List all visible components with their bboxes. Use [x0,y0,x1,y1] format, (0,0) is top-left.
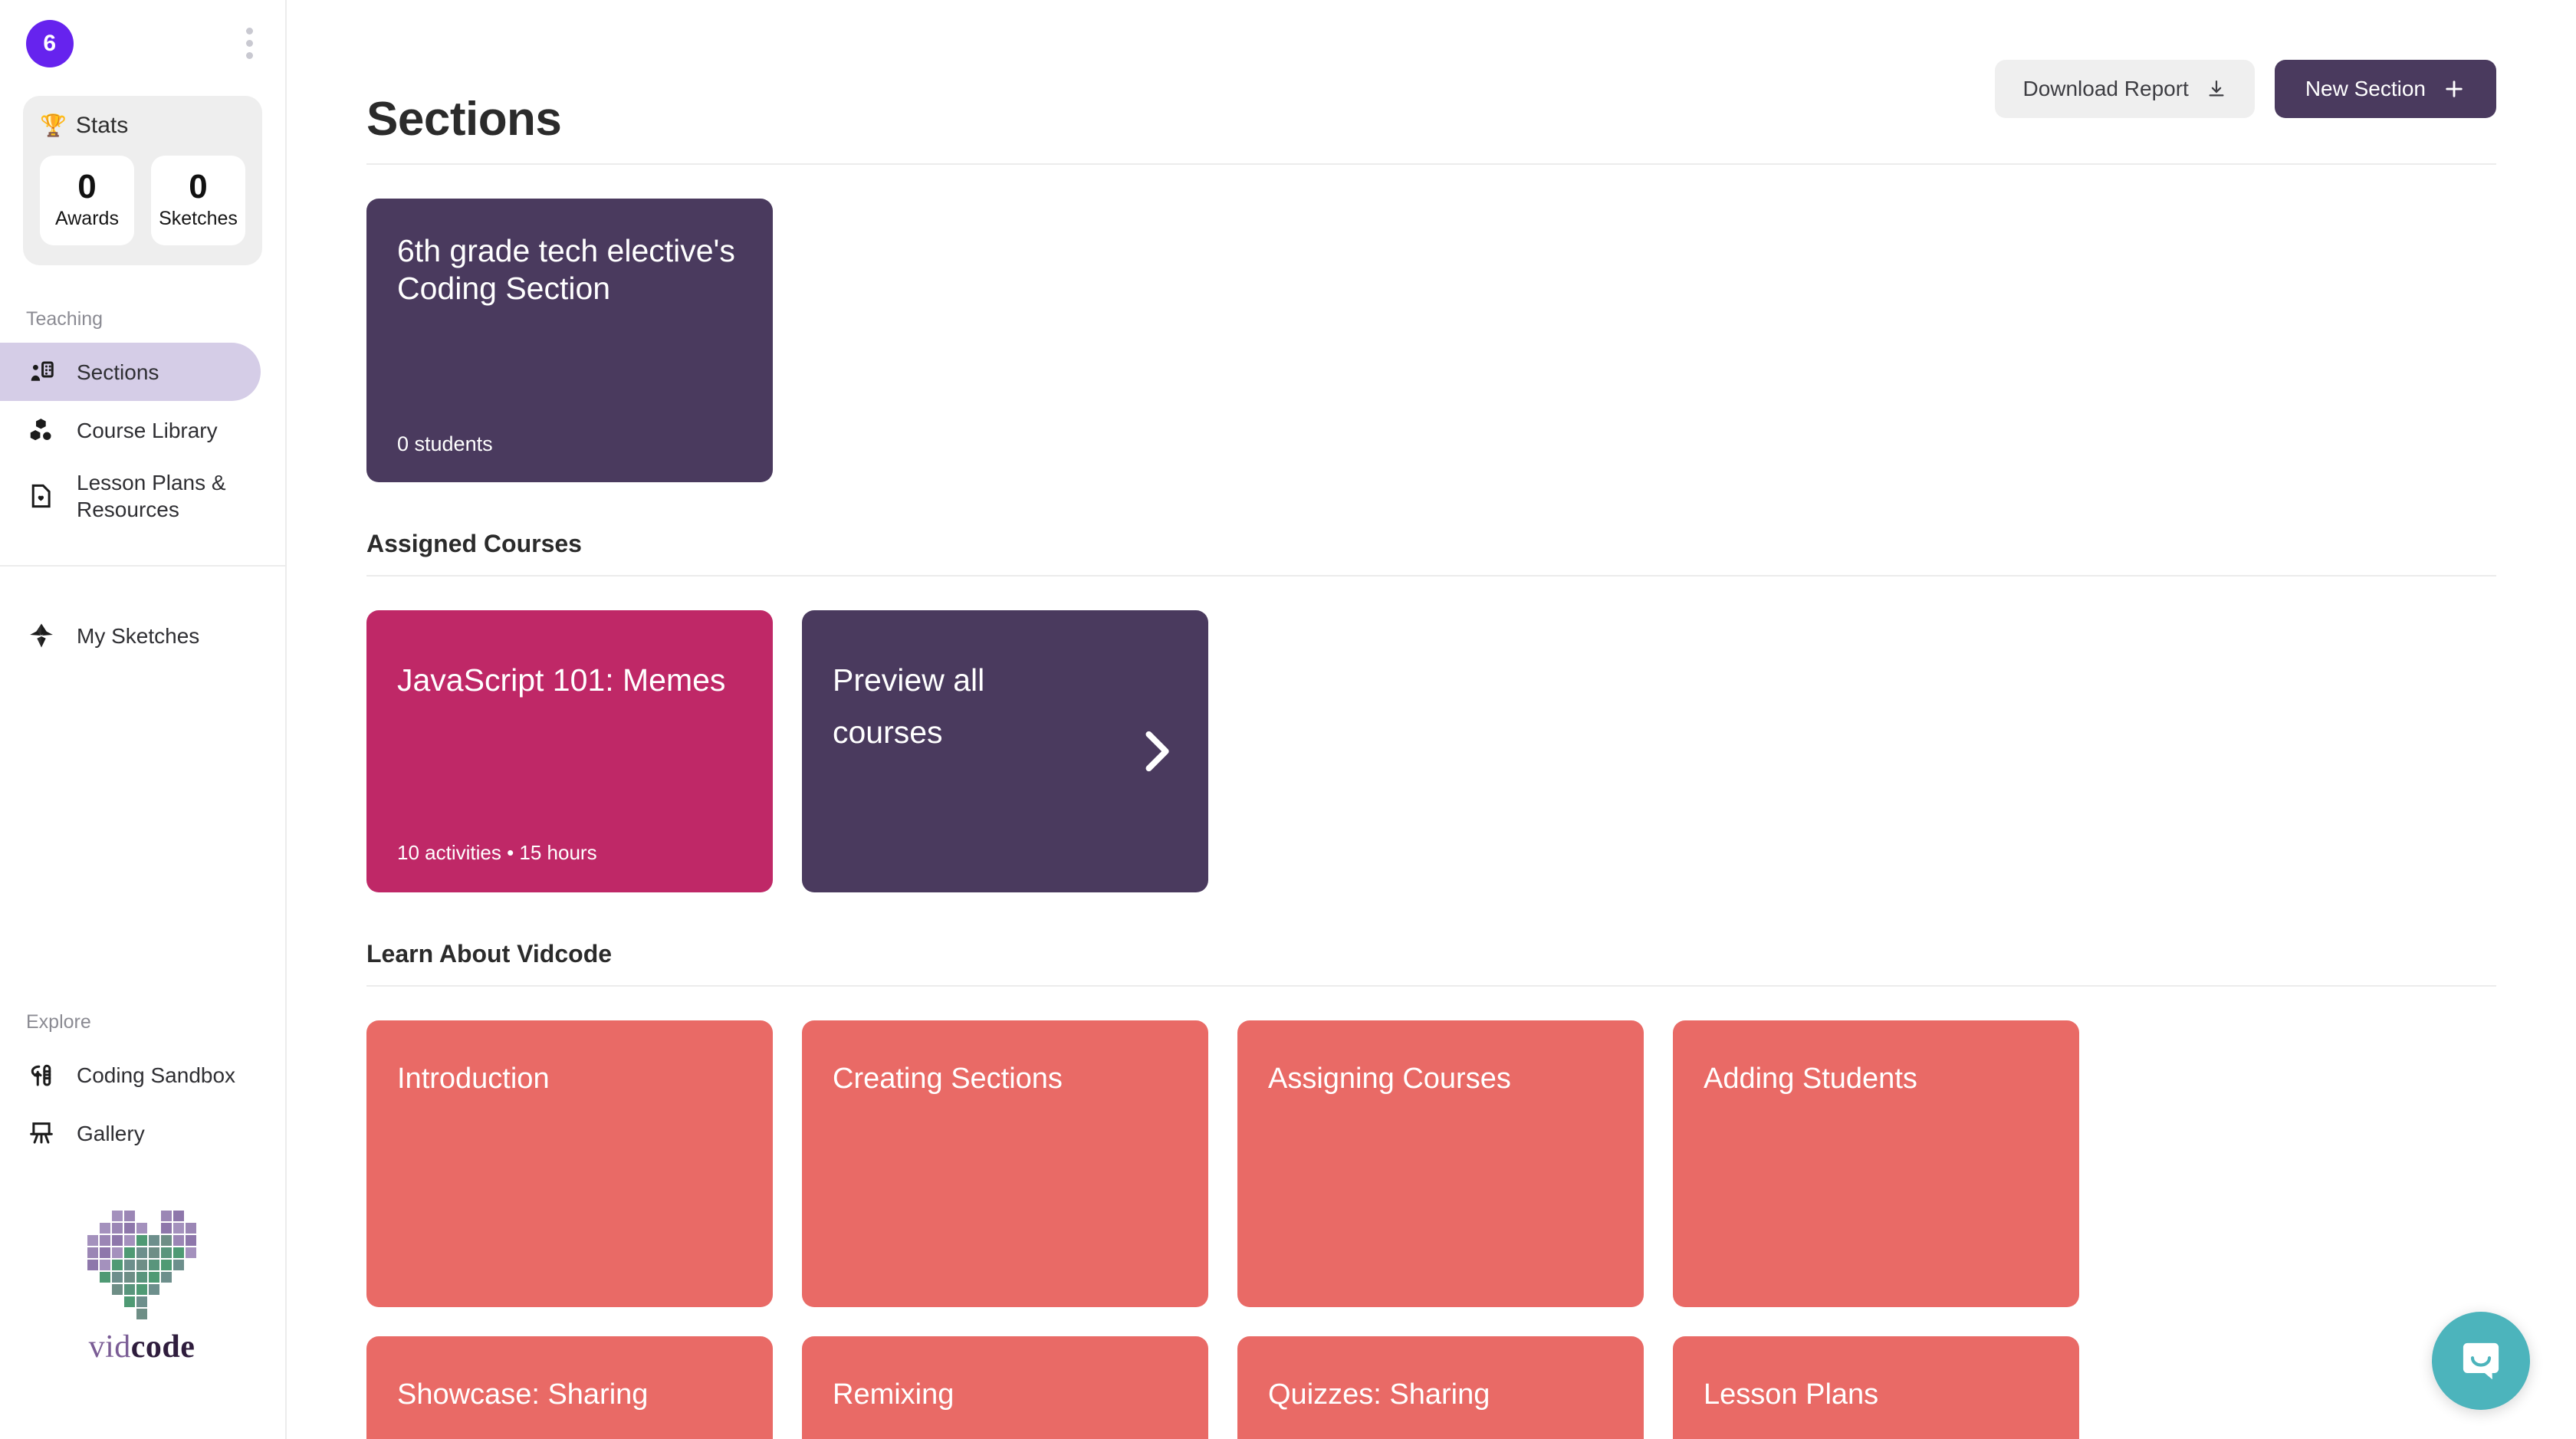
spacer [0,567,285,606]
sidebar: 6 🏆 Stats 0 Awards 0 Sketches [0,0,287,1439]
logo-text: vidcode [89,1329,195,1365]
chat-bubble-icon [2456,1336,2506,1386]
learn-tile[interactable]: Quizzes: Sharing [1237,1336,1644,1439]
vidcode-logo: vidcode [0,1211,284,1365]
stats-header: 🏆 Stats [40,113,245,139]
main-content: Download Report New Section Sections 6th… [287,0,2576,1439]
stats-card: 🏆 Stats 0 Awards 0 Sketches [23,96,262,265]
learn-about-rule [366,985,2496,987]
sidebar-item-lesson-plans[interactable]: Lesson Plans & Resources [0,459,261,533]
stat-label: Awards [43,208,131,230]
stat-box-awards: 0 Awards [40,156,134,245]
stat-value: 0 [154,169,242,205]
sidebar-item-course-library[interactable]: Course Library [0,401,261,459]
sections-card-row: 6th grade tech elective's Coding Section… [366,199,2496,482]
kebab-dot [246,52,253,59]
pixel-heart-logo [87,1211,196,1319]
stats-title: Stats [76,113,128,139]
stat-label: Sketches [154,208,242,230]
top-actions: Download Report New Section [1995,60,2496,118]
plus-icon [2443,77,2466,100]
sidebar-item-coding-sandbox[interactable]: Coding Sandbox [0,1046,261,1104]
kebab-menu-icon[interactable] [237,18,262,68]
sidebar-item-sections[interactable]: Sections [0,343,261,401]
course-card-title: JavaScript 101: Memes [397,655,742,707]
chat-launcher-button[interactable] [2432,1312,2530,1410]
nav-group-label-explore: Explore [0,1011,285,1033]
sidebar-item-label: Gallery [77,1120,145,1147]
preview-all-courses-card[interactable]: Preview all courses [802,610,1208,892]
section-card-title: 6th grade tech elective's Coding Section [397,232,742,307]
learn-tile[interactable]: Lesson Plans [1673,1336,2079,1439]
sections-icon [26,356,57,387]
download-report-button[interactable]: Download Report [1995,60,2254,118]
learn-tile[interactable]: Adding Students [1673,1020,2079,1307]
app-root: 6 🏆 Stats 0 Awards 0 Sketches [0,0,2576,1439]
preview-card-title: Preview all courses [833,655,1086,758]
logo-text-code: code [131,1329,195,1365]
learn-tile[interactable]: Creating Sections [802,1020,1208,1307]
title-rule [366,163,2496,165]
assigned-courses-rule [366,575,2496,577]
nav-group-label-teaching: Teaching [0,308,285,330]
logo-text-vid: vid [89,1329,131,1365]
section-card-meta: 0 students [397,432,742,456]
course-card-javascript-101[interactable]: JavaScript 101: Memes 10 activities • 15… [366,610,773,892]
learn-tile[interactable]: Introduction [366,1020,773,1307]
blocks-icon [26,415,57,445]
sidebar-item-label: Lesson Plans & Resources [77,469,261,523]
gem-icon [26,620,57,651]
document-heart-icon [26,481,57,511]
avatar[interactable]: 6 [26,20,74,67]
learn-about-tiles: Introduction Creating Sections Assigning… [366,1020,2496,1439]
download-report-label: Download Report [2022,77,2188,101]
learn-about-block: Learn About Vidcode Introduction Creatin… [366,940,2496,1439]
learn-tile[interactable]: Showcase: Sharing [366,1336,773,1439]
kebab-dot [246,40,253,47]
sidebar-item-label: Sections [77,359,159,386]
new-section-label: New Section [2305,77,2426,101]
chevron-right-icon [1135,724,1179,778]
learn-tile[interactable]: Remixing [802,1336,1208,1439]
sidebar-item-label: Coding Sandbox [77,1062,235,1089]
assigned-courses-row: JavaScript 101: Memes 10 activities • 15… [366,610,2496,892]
sidebar-item-label: My Sketches [77,623,199,649]
assigned-courses-block: Assigned Courses JavaScript 101: Memes 1… [366,530,2496,892]
sandbox-icon [26,1060,57,1090]
course-card-meta: 10 activities • 15 hours [397,841,742,865]
stats-grid: 0 Awards 0 Sketches [40,156,245,245]
stat-value: 0 [43,169,131,205]
new-section-button[interactable]: New Section [2275,60,2496,118]
learn-tile[interactable]: Assigning Courses [1237,1020,1644,1307]
trophy-icon: 🏆 [40,115,67,136]
section-card[interactable]: 6th grade tech elective's Coding Section… [366,199,773,482]
easel-icon [26,1118,57,1148]
assigned-courses-heading: Assigned Courses [366,530,2496,558]
sidebar-header: 6 [0,0,285,68]
download-icon [2206,78,2227,100]
sidebar-item-label: Course Library [77,417,218,444]
kebab-dot [246,28,253,34]
stat-box-sketches: 0 Sketches [151,156,245,245]
sidebar-item-gallery[interactable]: Gallery [0,1104,261,1162]
sidebar-item-my-sketches[interactable]: My Sketches [0,606,261,665]
learn-about-heading: Learn About Vidcode [366,940,2496,968]
